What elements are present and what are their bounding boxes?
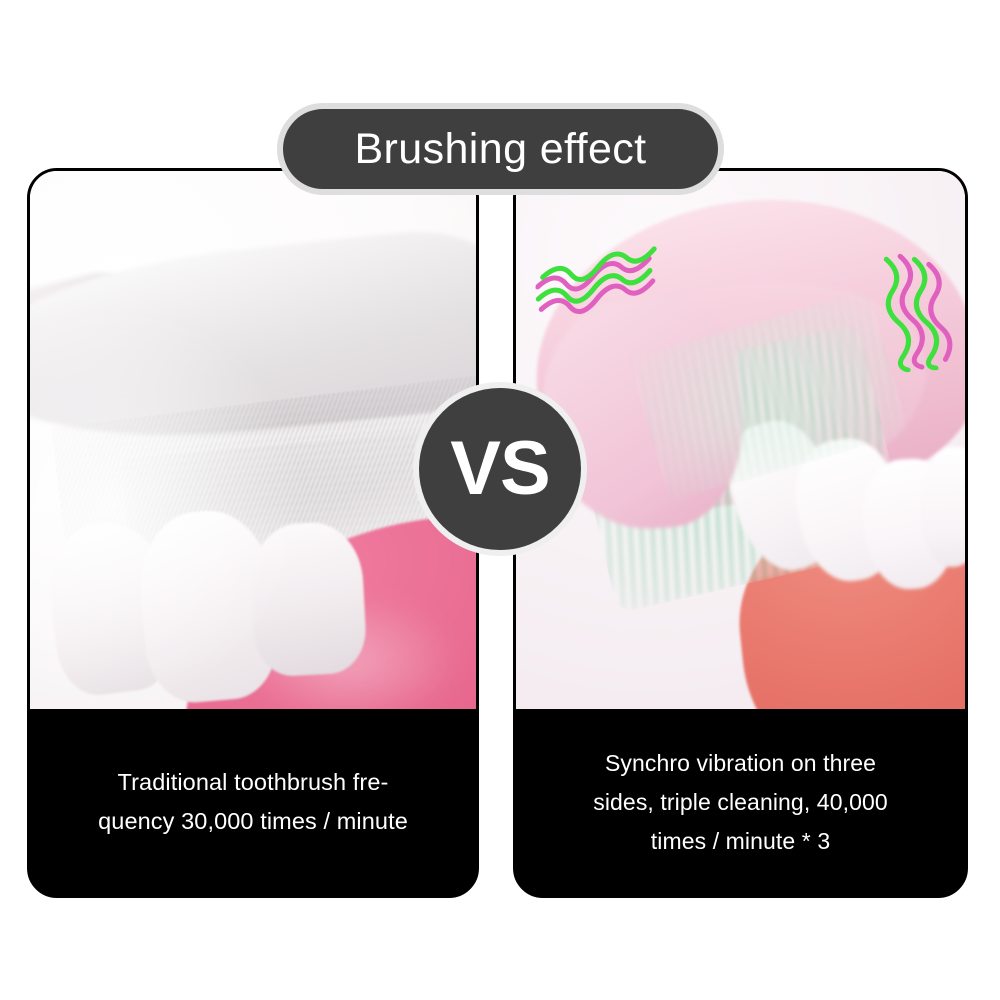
traditional-toothbrush-photo bbox=[30, 171, 476, 709]
comparison-panel-synchro: Synchro vibration on three sides, triple… bbox=[513, 168, 968, 898]
caption-line: Synchro vibration on three bbox=[605, 744, 876, 783]
panel-caption-traditional: Traditional toothbrush fre- quency 30,00… bbox=[30, 709, 476, 895]
caption-line: quency 30,000 times / minute bbox=[98, 802, 408, 841]
caption-line: times / minute * 3 bbox=[651, 822, 830, 861]
vibration-lines-icon bbox=[531, 225, 662, 347]
panel-caption-synchro: Synchro vibration on three sides, triple… bbox=[516, 709, 965, 895]
page-title-badge: Brushing effect bbox=[277, 103, 724, 195]
comparison-infographic: Traditional toothbrush fre- quency 30,00… bbox=[0, 0, 1000, 1000]
page-title: Brushing effect bbox=[354, 128, 646, 171]
comparison-panel-traditional: Traditional toothbrush fre- quency 30,00… bbox=[27, 168, 479, 898]
tooth-shape bbox=[248, 520, 368, 678]
caption-line: sides, triple cleaning, 40,000 bbox=[593, 783, 888, 822]
versus-label: VS bbox=[450, 431, 549, 507]
versus-badge: VS bbox=[413, 382, 587, 556]
u-shaped-sonic-toothbrush-photo bbox=[516, 171, 965, 709]
vibration-lines-icon bbox=[872, 248, 965, 374]
caption-line: Traditional toothbrush fre- bbox=[118, 763, 389, 802]
